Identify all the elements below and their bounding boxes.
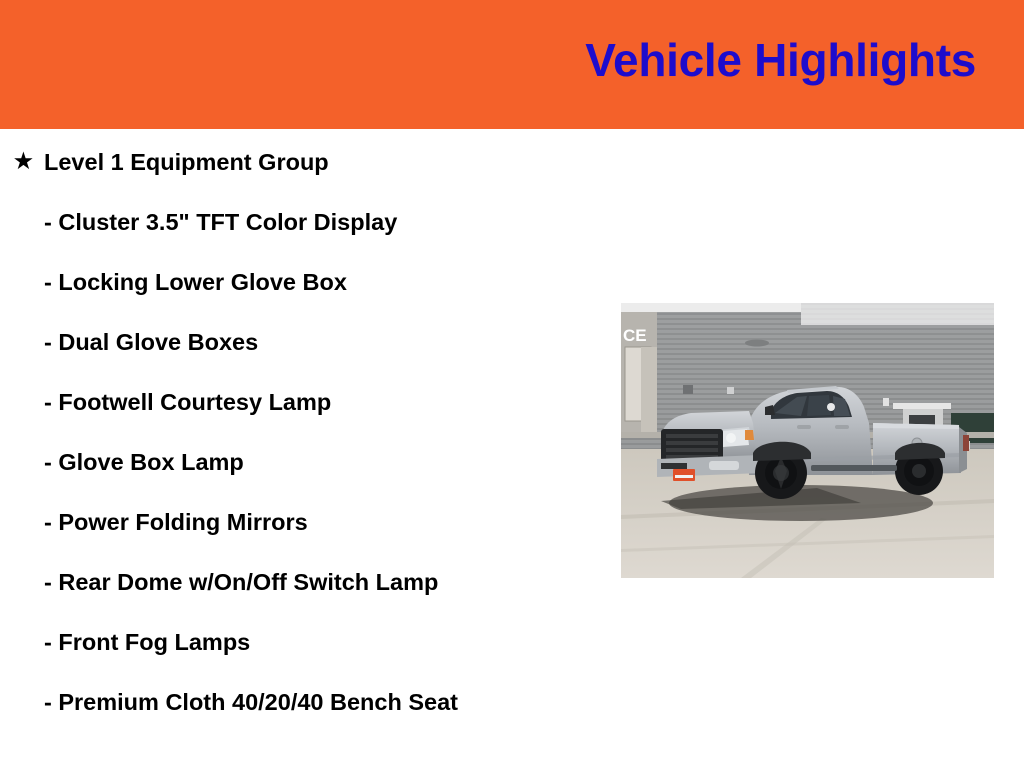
list-item-label: - Footwell Courtesy Lamp: [44, 389, 331, 415]
list-item: - Glove Box Lamp: [0, 447, 600, 477]
list-item: - Footwell Courtesy Lamp: [0, 387, 600, 417]
building-sign-text: CE: [623, 326, 647, 345]
list-item-label: - Cluster 3.5" TFT Color Display: [44, 209, 397, 235]
list-item-label: - Glove Box Lamp: [44, 449, 244, 475]
feature-list: ★ Level 1 Equipment Group - Cluster 3.5"…: [0, 129, 600, 717]
page-title: Vehicle Highlights: [585, 33, 976, 87]
list-item-label: - Rear Dome w/On/Off Switch Lamp: [44, 569, 438, 595]
list-item: - Dual Glove Boxes: [0, 327, 600, 357]
list-item: - Premium Cloth 40/20/40 Bench Seat: [0, 687, 600, 717]
list-item-label: - Locking Lower Glove Box: [44, 269, 347, 295]
list-item: - Front Fog Lamps: [0, 627, 600, 657]
list-item-equipment-group: ★ Level 1 Equipment Group: [0, 147, 600, 177]
list-item: - Locking Lower Glove Box: [0, 267, 600, 297]
header-bar: Vehicle Highlights: [0, 0, 1024, 129]
vehicle-photo: CE: [621, 303, 994, 578]
list-item-label: - Dual Glove Boxes: [44, 329, 258, 355]
content-area: ★ Level 1 Equipment Group - Cluster 3.5"…: [0, 129, 1024, 768]
list-item: - Cluster 3.5" TFT Color Display: [0, 207, 600, 237]
vehicle-photo-illustration: CE: [621, 303, 994, 578]
list-item-label: - Premium Cloth 40/20/40 Bench Seat: [44, 689, 458, 715]
list-item-label: - Front Fog Lamps: [44, 629, 250, 655]
list-item: - Power Folding Mirrors: [0, 507, 600, 537]
list-item-label: - Power Folding Mirrors: [44, 509, 308, 535]
star-bullet-icon: ★: [14, 147, 33, 177]
list-item-label: Level 1 Equipment Group: [44, 149, 329, 175]
list-item: - Rear Dome w/On/Off Switch Lamp: [0, 567, 600, 597]
